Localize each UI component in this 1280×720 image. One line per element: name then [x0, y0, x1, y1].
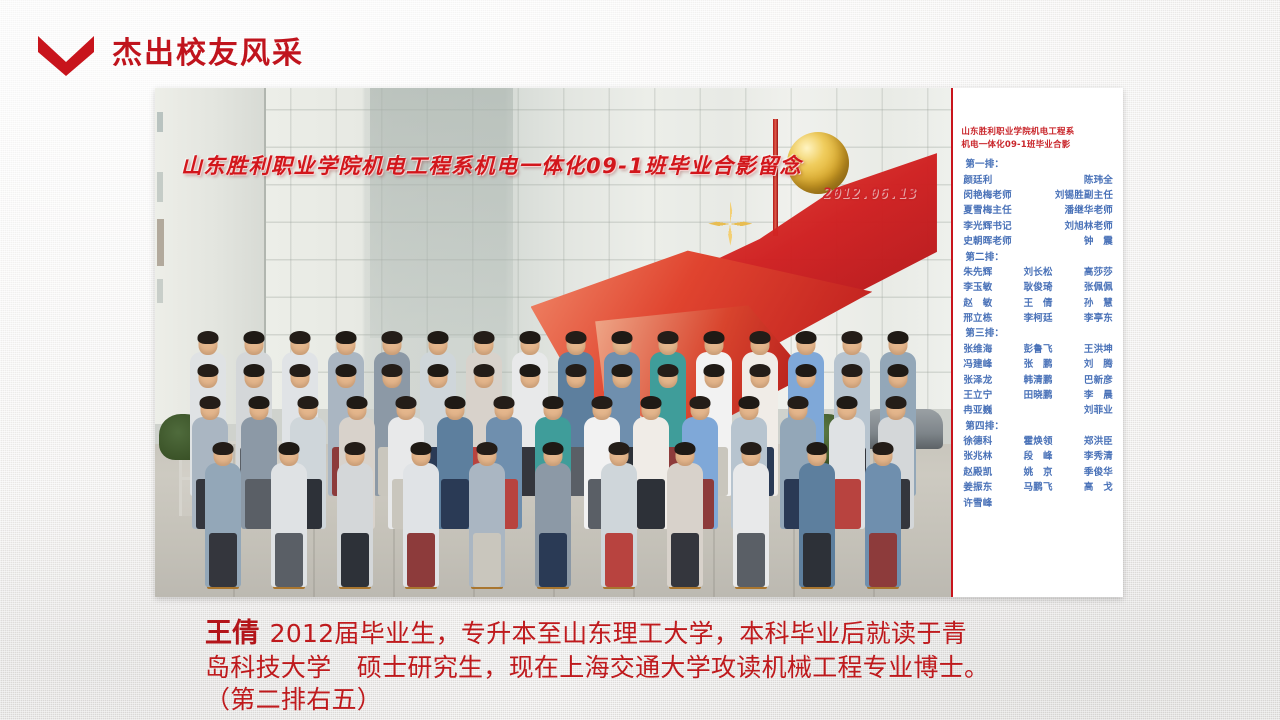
photo-person-legs [473, 533, 501, 587]
person-name: 刘锡胜副主任 [1038, 188, 1113, 203]
person-name: 许雪峰 [963, 496, 1113, 511]
photo-person-hair [842, 331, 863, 344]
photo-person-hair [690, 396, 711, 409]
photo-person [521, 444, 585, 587]
photo-person [587, 444, 651, 587]
person-name: 李 晨 [1063, 388, 1113, 403]
photo-person-hair [520, 364, 541, 377]
photo-person-hair [477, 442, 498, 455]
photo-person-hair [279, 442, 300, 455]
photo-banner-text: 山东胜利职业学院机电工程系机电一体化09-1班毕业合影留念 [181, 150, 802, 180]
photo-person-hair [750, 364, 771, 377]
group-photo-image: 山东胜利职业学院机电工程系机电一体化09-1班毕业合影留念 2012.06.13 [155, 88, 953, 597]
photo-date-stamp: 2012.06.13 [823, 186, 917, 202]
person-name: 邢立栋 [963, 311, 1013, 326]
person-name: 刘长松 [1013, 265, 1063, 280]
photo-person-hair [888, 364, 909, 377]
photo-crowd [155, 271, 951, 597]
photo-person-hair [336, 364, 357, 377]
photo-person-hair [336, 331, 357, 344]
person-name: 徐德科 [963, 434, 1013, 449]
photo-person-hair [396, 396, 417, 409]
photo-person-hair [675, 442, 696, 455]
photo-person-hair [474, 331, 495, 344]
person-name: 季俊华 [1063, 465, 1113, 480]
slide-header: 杰出校友风采 [36, 32, 304, 76]
person-name: 王 倩 [1013, 296, 1063, 311]
photo-person-hair [888, 331, 909, 344]
photo-person-hair [641, 396, 662, 409]
names-row: 夏雪梅主任潘继华老师 [961, 203, 1117, 218]
names-list: 第一排：颜廷利陈玮全闵艳梅老师刘锡胜副主任夏雪梅主任潘继华老师李光辉书记刘旭林老… [961, 157, 1117, 511]
photo-person-hair [298, 396, 319, 409]
photo-person-legs [671, 533, 699, 587]
photo-person-legs [539, 533, 567, 587]
person-name: 郑洪臣 [1063, 434, 1113, 449]
names-section-label: 第一排： [961, 157, 1117, 172]
photo-person [323, 444, 387, 587]
person-name: 李玉敏 [963, 280, 1013, 295]
names-row: 李光辉书记刘旭林老师 [961, 219, 1117, 234]
photo-person-legs [407, 533, 435, 587]
person-name: 陈玮全 [1038, 173, 1113, 188]
person-name: 张兆林 [963, 449, 1013, 464]
caption-text-1: 2012届毕业生，专升本至山东理工大学，本科毕业后就读于青 [270, 619, 967, 648]
person-name: 刘旭林老师 [1038, 219, 1113, 234]
person-name: 张 鹏 [1013, 357, 1063, 372]
photo-person-legs [275, 533, 303, 587]
photo-person-hair [842, 364, 863, 377]
alumnus-name: 王倩 [205, 618, 260, 649]
person-name: 田晓鹏 [1013, 388, 1063, 403]
photo-person-hair [658, 331, 679, 344]
photo-person-hair [382, 331, 403, 344]
photo-person-hair [741, 442, 762, 455]
chevron-down-icon [36, 32, 96, 76]
names-row: 徐德科霍焕领郑洪臣 [961, 434, 1117, 449]
photo-person-legs [605, 533, 633, 587]
names-row: 张泽龙韩清鹏巴新彦 [961, 373, 1117, 388]
photo-person-hair [886, 396, 907, 409]
person-name: 张泽龙 [963, 373, 1013, 388]
person-name: 颜廷利 [963, 173, 1038, 188]
photo-person-hair [244, 331, 265, 344]
photo-person-hair [520, 331, 541, 344]
names-row: 王立宁田晓鹏李 晨 [961, 388, 1117, 403]
photo-person-hair [543, 396, 564, 409]
photo-person-hair [609, 442, 630, 455]
photo-person-hair [200, 396, 221, 409]
photo-person-hair [739, 396, 760, 409]
names-row: 赵殿凯姚 京季俊华 [961, 465, 1117, 480]
photo-person [851, 444, 915, 587]
person-name: 李光辉书记 [963, 219, 1038, 234]
person-name: 姚 京 [1013, 465, 1063, 480]
page-title: 杰出校友风采 [112, 39, 304, 69]
photo-person-hair [249, 396, 270, 409]
names-row: 许雪峰 [961, 496, 1117, 511]
person-name: 夏雪梅主任 [963, 203, 1038, 218]
photo-person-hair [658, 364, 679, 377]
photo-window [157, 112, 163, 132]
names-section-label: 第三排： [961, 326, 1117, 341]
photo-person-hair [445, 396, 466, 409]
person-name: 霍焕领 [1013, 434, 1063, 449]
photo-person-hair [290, 364, 311, 377]
person-name: 巴新彦 [1063, 373, 1113, 388]
person-name: 赵殿凯 [963, 465, 1013, 480]
photo-person [653, 444, 717, 587]
person-name: 李柯廷 [1013, 311, 1063, 326]
photo-person-hair [704, 364, 725, 377]
photo-person-hair [612, 364, 633, 377]
photo-person-hair [347, 396, 368, 409]
photo-person-hair [543, 442, 564, 455]
photo-person-hair [494, 396, 515, 409]
photo-person [719, 444, 783, 587]
person-name: 彭鲁飞 [1013, 342, 1063, 357]
names-row: 邢立栋李柯廷李亭东 [961, 311, 1117, 326]
person-name: 马鹏飞 [1013, 480, 1063, 495]
names-header-line: 山东胜利职业学院机电工程系 [961, 126, 1117, 139]
person-name: 张维海 [963, 342, 1013, 357]
caption-line-3: （第二排右五） [205, 684, 1085, 716]
photo-person-hair [807, 442, 828, 455]
photo-person [455, 444, 519, 587]
photo-person-hair [428, 331, 449, 344]
names-row: 冉亚巍刘菲业 [961, 403, 1117, 418]
photo-person-hair [592, 396, 613, 409]
person-name: 钟 震 [1038, 234, 1113, 249]
photo-person [191, 444, 255, 587]
photo-person [257, 444, 321, 587]
photo-person-hair [566, 331, 587, 344]
photo-window [157, 219, 164, 266]
person-name: 刘菲业 [1038, 403, 1113, 418]
names-row: 赵 敏王 倩孙 慧 [961, 296, 1117, 311]
photo-person [389, 444, 453, 587]
photo-person-hair [704, 331, 725, 344]
photo-person [785, 444, 849, 587]
person-name: 冉亚巍 [963, 403, 1038, 418]
names-row: 颜廷利陈玮全 [961, 173, 1117, 188]
person-name: 姜振东 [963, 480, 1013, 495]
photo-person-hair [796, 331, 817, 344]
person-name: 李亭东 [1063, 311, 1113, 326]
photo-person-hair [213, 442, 234, 455]
person-name: 朱先辉 [963, 265, 1013, 280]
photo-person-hair [788, 396, 809, 409]
names-panel-header: 山东胜利职业学院机电工程系 机电一体化09-1班毕业合影 [961, 126, 1117, 152]
photo-person-legs [209, 533, 237, 587]
names-header-line: 机电一体化09-1班毕业合影 [961, 139, 1117, 152]
names-section-label: 第四排： [961, 419, 1117, 434]
person-name: 刘 腾 [1063, 357, 1113, 372]
person-name: 赵 敏 [963, 296, 1013, 311]
photo-person-hair [345, 442, 366, 455]
photo-person-hair [382, 364, 403, 377]
photo-person-hair [612, 331, 633, 344]
names-row: 冯建峰张 鹏刘 腾 [961, 357, 1117, 372]
person-name: 张佩佩 [1063, 280, 1113, 295]
names-section-label: 第二排： [961, 250, 1117, 265]
photo-person-hair [290, 331, 311, 344]
photo-person-hair [474, 364, 495, 377]
photo-person-hair [837, 396, 858, 409]
photo-person-hair [428, 364, 449, 377]
caption-line-2: 岛科技大学 硕士研究生，现在上海交通大学攻读机械工程专业博士。 [205, 652, 1085, 684]
photo-person-hair [244, 364, 265, 377]
graduation-photo-block: 山东胜利职业学院机电工程系机电一体化09-1班毕业合影留念 2012.06.13… [155, 88, 1123, 597]
crowd-row-front [155, 444, 951, 587]
names-row: 张维海彭鲁飞王洪坤 [961, 342, 1117, 357]
names-row: 朱先辉刘长松高莎莎 [961, 265, 1117, 280]
person-name: 史朝晖老师 [963, 234, 1038, 249]
person-name: 耿俊琦 [1013, 280, 1063, 295]
photo-person-hair [796, 364, 817, 377]
person-name: 李秀清 [1063, 449, 1113, 464]
photo-person-legs [737, 533, 765, 587]
photo-person-legs [803, 533, 831, 587]
alumnus-caption: 王倩2012届毕业生，专升本至山东理工大学，本科毕业后就读于青 岛科技大学 硕士… [205, 617, 1085, 716]
person-name: 潘继华老师 [1038, 203, 1113, 218]
person-name: 高莎莎 [1063, 265, 1113, 280]
names-row: 闵艳梅老师刘锡胜副主任 [961, 188, 1117, 203]
person-name: 孙 慧 [1063, 296, 1113, 311]
photo-person-legs [341, 533, 369, 587]
names-row: 张兆林段 峰李秀清 [961, 449, 1117, 464]
person-name: 王立宁 [963, 388, 1013, 403]
names-row: 史朝晖老师钟 震 [961, 234, 1117, 249]
person-name: 段 峰 [1013, 449, 1063, 464]
photo-person-hair [873, 442, 894, 455]
photo-person-hair [411, 442, 432, 455]
names-row: 李玉敏耿俊琦张佩佩 [961, 280, 1117, 295]
person-name: 高 戈 [1063, 480, 1113, 495]
person-name: 王洪坤 [1063, 342, 1113, 357]
names-row: 姜振东马鹏飞高 戈 [961, 480, 1117, 495]
person-name: 韩清鹏 [1013, 373, 1063, 388]
person-name: 冯建峰 [963, 357, 1013, 372]
person-name: 闵艳梅老师 [963, 188, 1038, 203]
caption-line-1: 王倩2012届毕业生，专升本至山东理工大学，本科毕业后就读于青 [205, 617, 1085, 652]
photo-person-hair [566, 364, 587, 377]
photo-person-hair [750, 331, 771, 344]
photo-person-hair [198, 331, 219, 344]
names-panel: 山东胜利职业学院机电工程系 机电一体化09-1班毕业合影 第一排：颜廷利陈玮全闵… [953, 88, 1123, 597]
photo-person-legs [869, 533, 897, 587]
photo-window [157, 172, 163, 202]
photo-person-hair [198, 364, 219, 377]
